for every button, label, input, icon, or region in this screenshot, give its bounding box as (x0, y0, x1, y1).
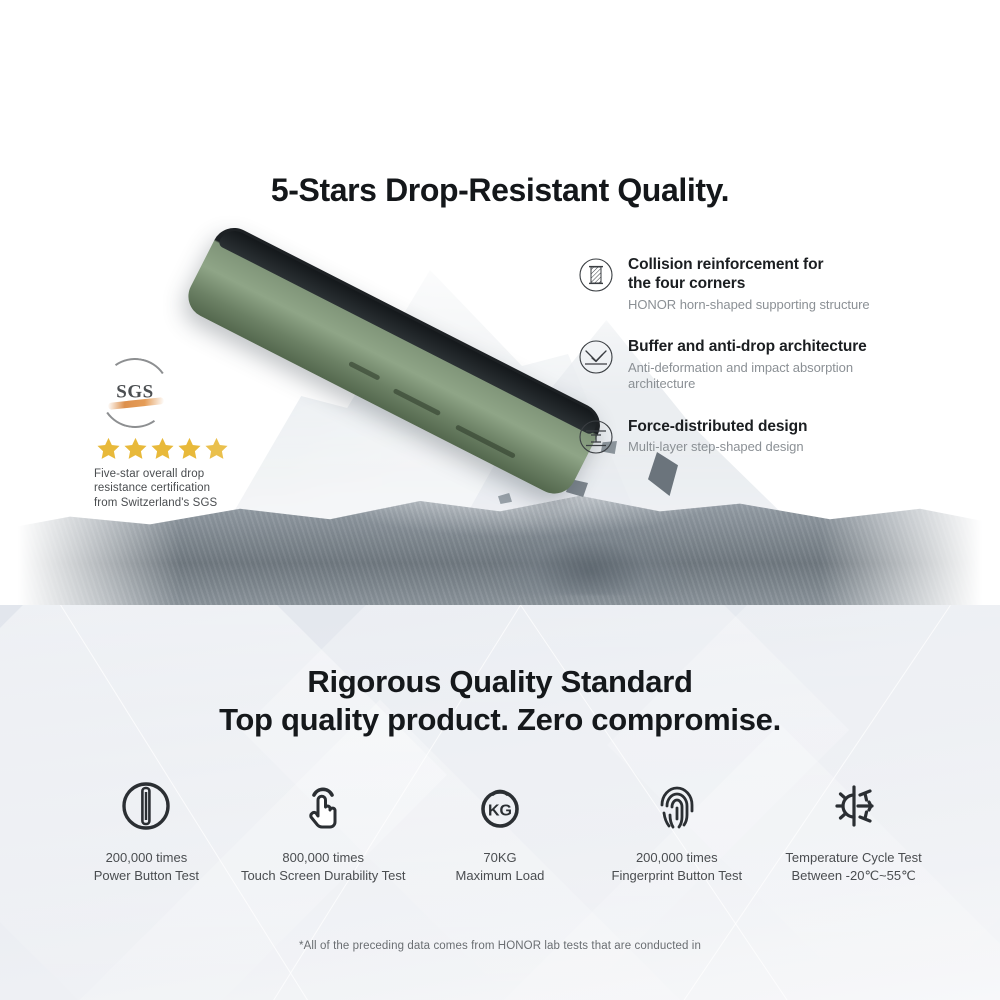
quality-heading: Rigorous Quality Standard Top quality pr… (0, 663, 1000, 739)
product-feature-page: 5-Stars Drop-Resistant Quality. SGS Five… (0, 0, 1000, 1000)
star-icon (204, 436, 229, 461)
star-icon (123, 436, 148, 461)
feature-text: Force-distributed design Multi-layer ste… (628, 417, 978, 456)
test-label: Touch Screen Durability Test (235, 867, 412, 885)
feature-text: Collision reinforcement for the four cor… (628, 255, 978, 313)
phone-side-button (393, 388, 442, 416)
sgs-caption-line: from Switzerland's SGS (94, 496, 294, 510)
kg-weight-icon: KG (412, 775, 589, 837)
footnote-disclaimer: *All of the preceding data comes from HO… (0, 940, 1000, 952)
sgs-caption: Five-star overall drop resistance certif… (94, 467, 294, 510)
test-value: 800,000 times (235, 849, 412, 867)
feature-title-line: the four corners (628, 274, 978, 293)
phone-side-button (455, 424, 516, 458)
sun-snowflake-icon (765, 775, 942, 837)
test-metrics-list: 200,000 times Power Button Test 800,000 … (0, 775, 1000, 884)
quality-standard-section: Rigorous Quality Standard Top quality pr… (0, 605, 1000, 1000)
test-item-touch-screen: 800,000 times Touch Screen Durability Te… (235, 775, 412, 884)
hero-section: 5-Stars Drop-Resistant Quality. SGS Five… (0, 0, 1000, 605)
test-value: 200,000 times (58, 849, 235, 867)
test-label: Maximum Load (412, 867, 589, 885)
star-icon (96, 436, 121, 461)
feature-subtitle-line: HONOR horn-shaped supporting structure (628, 297, 978, 314)
test-item-maximum-load: KG 70KG Maximum Load (412, 775, 589, 884)
feature-list: Collision reinforcement for the four cor… (578, 255, 978, 460)
sgs-caption-line: Five-star overall drop (94, 467, 294, 481)
star-icon (150, 436, 175, 461)
feature-text: Buffer and anti-drop architecture Anti-d… (628, 337, 978, 393)
feature-title-line: Force-distributed design (628, 417, 978, 436)
test-item-fingerprint-button: 200,000 times Fingerprint Button Test (588, 775, 765, 884)
fingerprint-icon (588, 775, 765, 837)
buffer-chevron-icon (578, 337, 616, 380)
touch-hand-icon (235, 775, 412, 837)
test-item-temperature-cycle: Temperature Cycle Test Between -20℃~55℃ (765, 775, 942, 884)
feature-item-buffer-architecture: Buffer and anti-drop architecture Anti-d… (578, 337, 978, 393)
feature-item-force-distributed: Force-distributed design Multi-layer ste… (578, 417, 978, 460)
feature-title-line: Collision reinforcement for (628, 255, 978, 274)
feature-subtitle-line: Anti-deformation and impact absorption (628, 360, 978, 377)
star-icon (177, 436, 202, 461)
test-value: Temperature Cycle Test (765, 849, 942, 867)
feature-item-collision-reinforcement: Collision reinforcement for the four cor… (578, 255, 978, 313)
sgs-certification-block: SGS Five-star overall drop resistance ce… (94, 358, 294, 510)
i-beam-icon (578, 417, 616, 460)
test-item-power-button: 200,000 times Power Button Test (58, 775, 235, 884)
feature-subtitle-line: architecture (628, 376, 978, 393)
power-button-icon (58, 775, 235, 837)
sgs-caption-line: resistance certification (94, 481, 294, 495)
test-label: Power Button Test (58, 867, 235, 885)
hatched-column-icon (578, 255, 616, 298)
test-value: 70KG (412, 849, 589, 867)
ground-fade-right (820, 475, 1000, 605)
page-title: 5-Stars Drop-Resistant Quality. (0, 172, 1000, 209)
test-value: 200,000 times (588, 849, 765, 867)
quality-heading-line2: Top quality product. Zero compromise. (0, 701, 1000, 739)
star-rating (96, 436, 294, 461)
feature-title-line: Buffer and anti-drop architecture (628, 337, 978, 356)
sgs-logo: SGS (100, 358, 170, 428)
test-label: Between -20℃~55℃ (765, 867, 942, 885)
phone-side-button (348, 361, 381, 381)
feature-subtitle-line: Multi-layer step-shaped design (628, 439, 978, 456)
test-label: Fingerprint Button Test (588, 867, 765, 885)
quality-heading-line1: Rigorous Quality Standard (0, 663, 1000, 701)
svg-text:KG: KG (488, 803, 512, 820)
